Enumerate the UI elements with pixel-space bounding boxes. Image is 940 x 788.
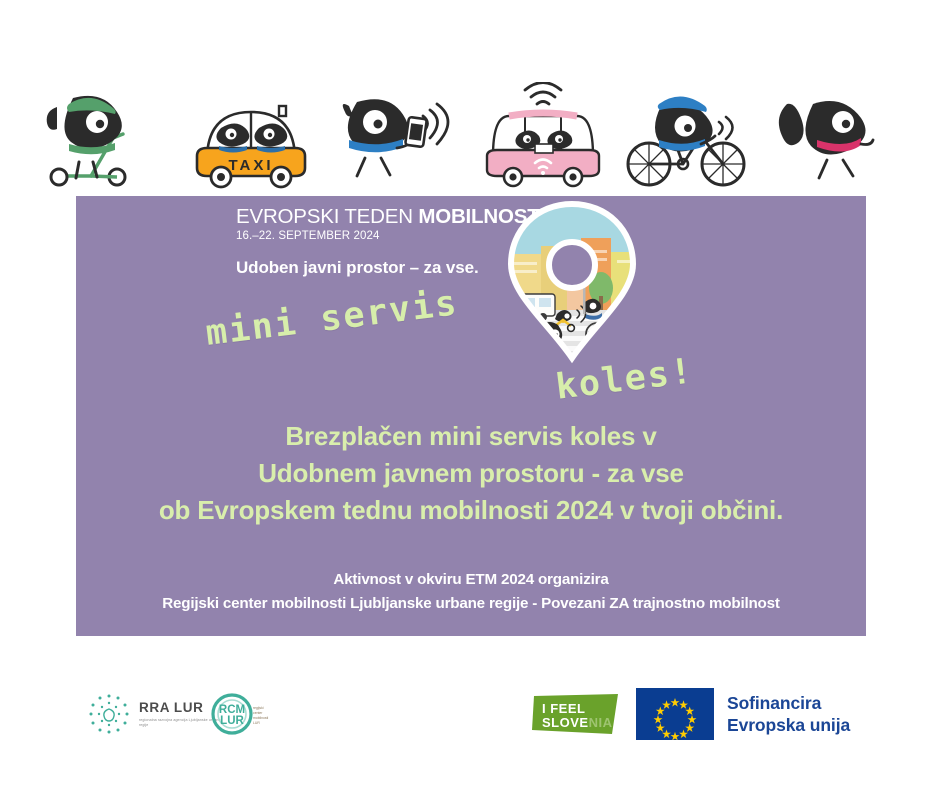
emw-title-light: EVROPSKI TEDEN [236, 205, 413, 228]
logo-rcm-lur: RCM LUR regijski center mobilnosti LUR [211, 692, 273, 736]
organizer-line-2: Regijski center mobilnosti Ljubljanske u… [76, 592, 866, 616]
main-headline-line-1: Brezplačen mini servis koles v [76, 418, 866, 455]
rra-lur-name: RRA LUR [139, 701, 221, 715]
rra-lur-wordmark: RRA LUR regionalna razvojna agencija Lju… [139, 699, 221, 728]
main-headline: Brezplačen mini servis koles v Udobnem j… [76, 418, 866, 529]
eu-flag-icon [636, 688, 714, 740]
rra-lur-tagline: regionalna razvojna agencija Ljubljanske… [139, 718, 221, 729]
rcm-lur-line2: LUR [220, 715, 244, 727]
logo-rra-lur: RRA LUR regionalna razvojna agencija Lju… [86, 690, 226, 738]
eu-text-line-2: Evropska unija [727, 714, 850, 736]
slovenia-line1: I FEEL [542, 701, 585, 716]
smartphone-pedestrian-icon [327, 82, 467, 190]
svg-text:LUR: LUR [253, 721, 260, 725]
logo-i-feel-slovenia: I FEEL SLOVENIA [532, 694, 620, 736]
scooter-rider-icon [35, 82, 175, 190]
svg-text:center: center [253, 711, 263, 715]
cyclist-icon [619, 82, 759, 190]
taxi-label: TAXI [228, 157, 273, 174]
organizer-line-1: Aktivnost v okviru ETM 2024 organizira [76, 568, 866, 592]
script-headline-line1: mini servis [204, 283, 461, 354]
main-headline-line-3: ob Evropskem tednu mobilnosti 2024 v tvo… [76, 492, 866, 529]
eu-funding-text: Sofinancira Evropska unija [727, 692, 850, 737]
rra-lur-mark-icon [86, 691, 132, 737]
organizer-credit: Aktivnost v okviru ETM 2024 organizira R… [76, 568, 866, 615]
poster-panel: EVROPSKI TEDEN MOBILNOSTI 16.–22. SEPTEM… [76, 196, 866, 636]
slovenia-line2: SLOVENIA [542, 715, 613, 730]
svg-text:regijski: regijski [253, 706, 264, 710]
main-headline-line-2: Udobnem javnem prostoru - za vse [76, 455, 866, 492]
logo-european-union: Sofinancira Evropska unija [636, 688, 876, 740]
eu-text-line-1: Sofinancira [727, 692, 850, 714]
footer-logo-bar: RRA LUR regionalna razvojna agencija Lju… [0, 636, 940, 788]
character-illustration-strip: TAXI [0, 0, 940, 196]
map-pin-illustration-icon [485, 198, 660, 368]
svg-text:mobilnosti: mobilnosti [253, 716, 269, 720]
autonomous-shuttle-icon [473, 82, 613, 190]
walking-person-icon [765, 82, 905, 190]
taxi-car-icon: TAXI [181, 82, 321, 190]
